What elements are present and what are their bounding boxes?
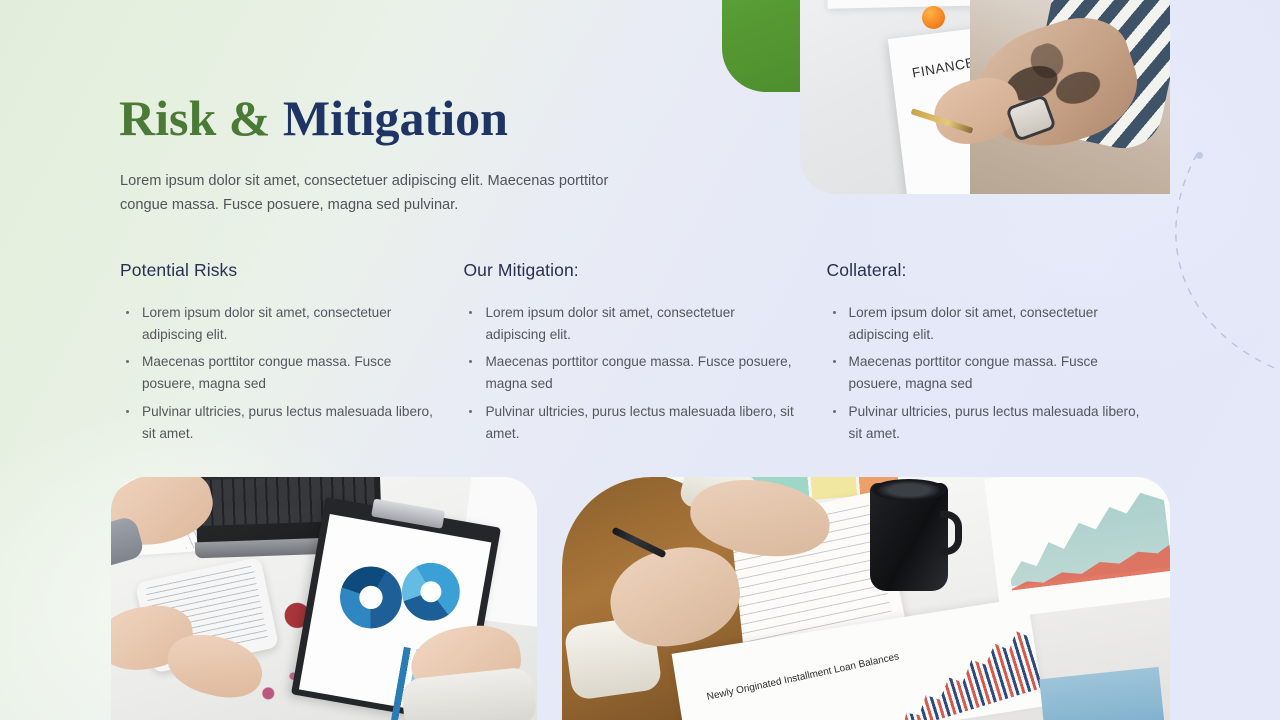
- arc-endpoint-dot: [1196, 152, 1203, 159]
- list-item: Lorem ipsum dolor sit amet, consectetuer…: [827, 302, 1140, 346]
- page-subtitle: Lorem ipsum dolor sit amet, consectetuer…: [120, 170, 615, 217]
- loan-bar-chart: [881, 618, 1045, 720]
- bullet-list: Lorem ipsum dolor sit amet, consectetuer…: [120, 302, 433, 445]
- list-item: Lorem ipsum dolor sit amet, consectetuer…: [120, 302, 433, 346]
- column-heading: Potential Risks: [120, 260, 433, 281]
- mug-handle: [940, 511, 962, 555]
- list-item: Pulvinar ultricies, purus lectus malesua…: [827, 401, 1140, 445]
- list-item: Maecenas porttitor congue massa. Fusce p…: [463, 351, 796, 395]
- page-title-secondary: Mitigation: [283, 90, 508, 146]
- three-column-section: Potential Risks Lorem ipsum dolor sit am…: [120, 260, 1170, 450]
- column-our-mitigation: Our Mitigation: Lorem ipsum dolor sit am…: [463, 260, 826, 450]
- bullet-list: Lorem ipsum dolor sit amet, consectetuer…: [827, 302, 1140, 445]
- page-title: Risk & Mitigation: [119, 90, 508, 146]
- mug-rim: [872, 479, 946, 501]
- list-item: Maecenas porttitor congue massa. Fusce p…: [827, 351, 1140, 395]
- donut-chart-two: [397, 558, 464, 625]
- column-collateral: Collateral: Lorem ipsum dolor sit amet, …: [827, 260, 1170, 450]
- list-item: Pulvinar ultricies, purus lectus malesua…: [120, 401, 433, 445]
- photo-team-analysis: [111, 477, 537, 720]
- bullet-list: Lorem ipsum dolor sit amet, consectetuer…: [463, 302, 796, 445]
- slide-canvas: FINANCE REVIEW: [0, 0, 1280, 720]
- page-title-primary: Risk &: [119, 90, 283, 146]
- donut-chart-one: [335, 562, 407, 634]
- photo-finance-review: FINANCE REVIEW: [800, 0, 1170, 194]
- list-item: Lorem ipsum dolor sit amet, consectetuer…: [463, 302, 796, 346]
- column-heading: Our Mitigation:: [463, 260, 796, 281]
- loan-chart-caption: Newly Originated Installment Loan Balanc…: [706, 651, 900, 703]
- list-item: Pulvinar ultricies, purus lectus malesua…: [463, 401, 796, 445]
- column-potential-risks: Potential Risks Lorem ipsum dolor sit am…: [120, 260, 463, 450]
- list-item: Maecenas porttitor congue massa. Fusce p…: [120, 351, 433, 395]
- area-chart-report: [984, 477, 1170, 618]
- photo-ledger-review: Newly Originated Installment Loan Balanc…: [562, 477, 1170, 720]
- column-heading: Collateral:: [827, 260, 1140, 281]
- orange-magnet-dot: [922, 6, 945, 29]
